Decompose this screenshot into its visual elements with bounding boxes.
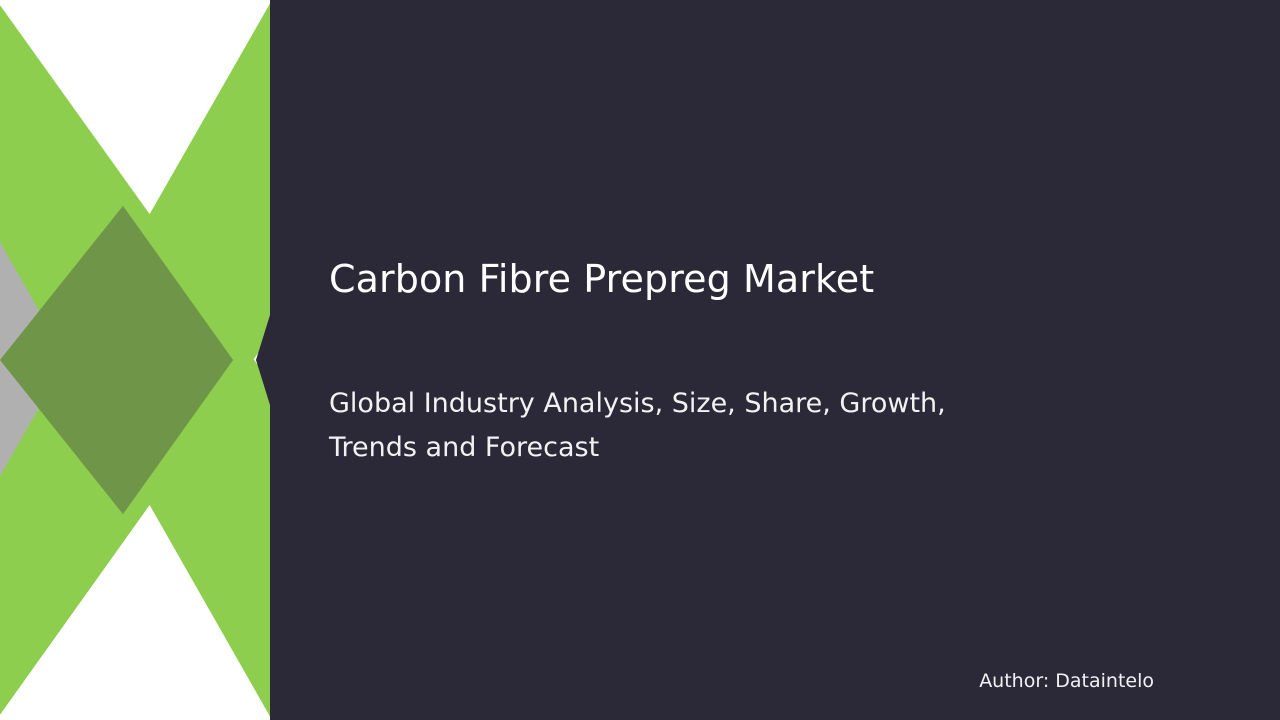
subtitle-line-2: Trends and Forecast: [329, 426, 1009, 470]
author-block: Author: Dataintelo: [979, 670, 1154, 693]
title-block: Carbon Fibre Prepreg Market: [329, 258, 1089, 302]
title-slide: Carbon Fibre Prepreg Market Global Indus…: [0, 0, 1280, 720]
author-label: Author: Dataintelo: [979, 670, 1154, 693]
slide-content-layer: Carbon Fibre Prepreg Market Global Indus…: [0, 0, 1280, 720]
page-title: Carbon Fibre Prepreg Market: [329, 258, 1089, 302]
subtitle-block: Global Industry Analysis, Size, Share, G…: [329, 382, 1009, 470]
subtitle-line-1: Global Industry Analysis, Size, Share, G…: [329, 382, 1009, 426]
